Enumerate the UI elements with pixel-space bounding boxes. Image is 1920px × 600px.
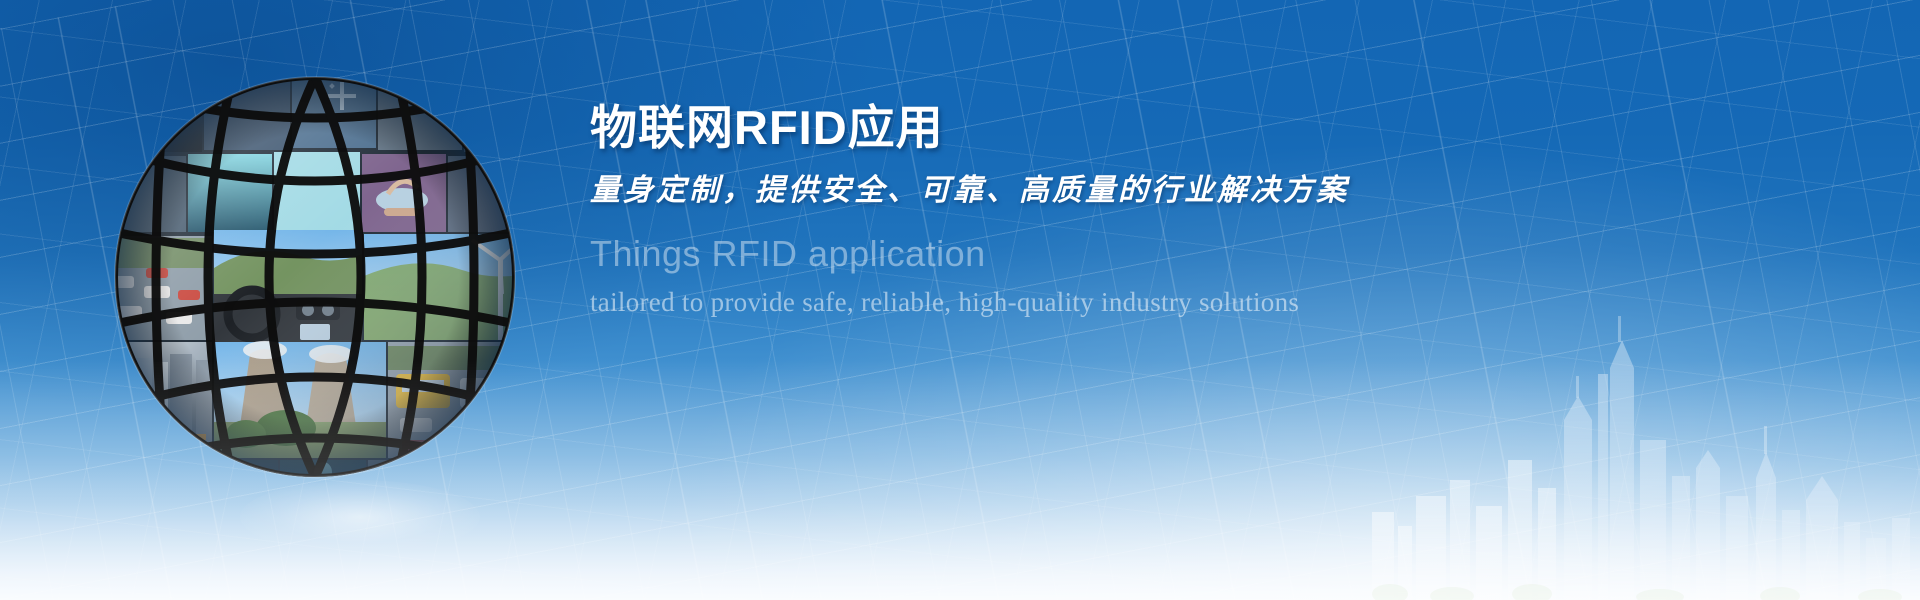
tile-traffic-jam <box>100 236 212 340</box>
globe-svg <box>100 62 530 492</box>
rfid-hero-banner: 物联网RFID应用 量身定制，提供安全、可靠、高质量的行业解决方案 Things… <box>0 0 1920 600</box>
headline-english: Things RFID application <box>590 232 1870 275</box>
headline-chinese: 物联网RFID应用 <box>590 100 1870 155</box>
tile-city-buses <box>388 342 530 458</box>
tile-car-dashboard <box>214 230 362 342</box>
city-skyline-watermark <box>1360 300 1920 600</box>
banner-copy: 物联网RFID应用 量身定制，提供安全、可靠、高质量的行业解决方案 Things… <box>590 100 1870 319</box>
subheadline-english: tailored to provide safe, reliable, high… <box>590 286 1870 320</box>
tile-warehouse <box>100 342 212 458</box>
tile-power-plant <box>214 341 386 458</box>
globe-tiles <box>100 62 530 492</box>
subheadline-chinese: 量身定制，提供安全、可靠、高质量的行业解决方案 <box>590 171 1870 210</box>
tile-body-scan <box>280 460 366 492</box>
tile-high-speed-train <box>368 460 452 492</box>
tile-wind-turbine <box>364 234 530 340</box>
globe-frame <box>115 77 515 477</box>
globe-rim <box>115 77 515 477</box>
photo-mosaic-globe <box>100 62 530 492</box>
globe-reflection <box>240 480 480 554</box>
tile-fingerprint <box>194 460 278 492</box>
